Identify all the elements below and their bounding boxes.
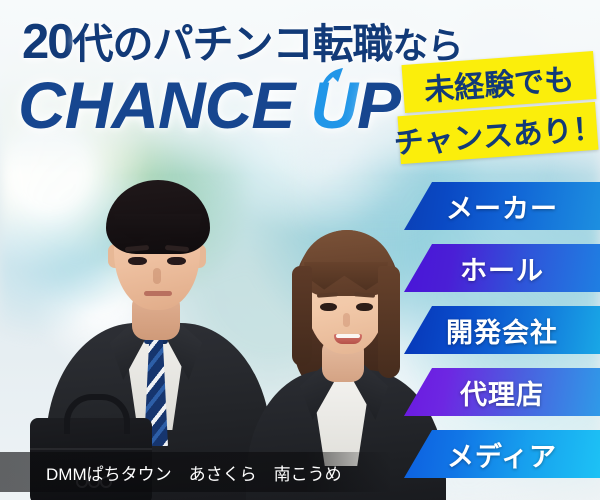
category-button-agency[interactable]: 代理店 [404, 368, 600, 416]
category-button-hall[interactable]: ホール [404, 244, 600, 292]
category-button-maker[interactable]: メーカー [404, 182, 600, 230]
category-button-list: メーカー ホール 開発会社 代理店 メディア [0, 0, 600, 500]
recruitment-banner: 20代のパチンコ転職なら CHANCE UP 未経験でも チャンスあり！ メーカ… [0, 0, 600, 500]
category-button-media[interactable]: メディア [404, 430, 600, 478]
credits-caption: DMMぱちタウン あさくら 南こうめ [0, 452, 392, 492]
category-button-developer[interactable]: 開発会社 [404, 306, 600, 354]
